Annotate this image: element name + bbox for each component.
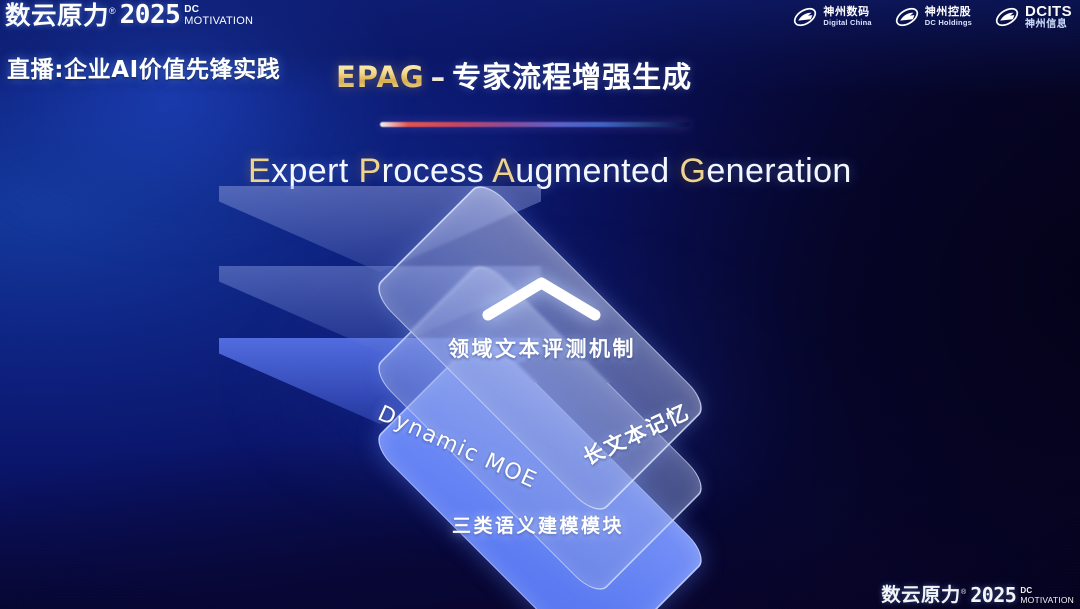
watermark-logo: 数云原力 ® 2025 DC MOTIVATION: [882, 585, 1074, 605]
watermark-brand-cn: 数云原力: [881, 586, 961, 605]
watermark-year: 2025: [970, 585, 1016, 605]
watermark-dc-motivation: DC MOTIVATION: [1020, 587, 1074, 605]
watermark-motivation-text: MOTIVATION: [1020, 596, 1074, 605]
watermark-registered-mark: ®: [961, 589, 966, 596]
watermark-dc-text: DC: [1020, 587, 1074, 595]
noise-overlay: [0, 0, 1080, 609]
slide-canvas: 数云原力 ® 2025 DC MOTIVATION 直播:企业AI价值先锋实践 …: [0, 0, 1080, 609]
